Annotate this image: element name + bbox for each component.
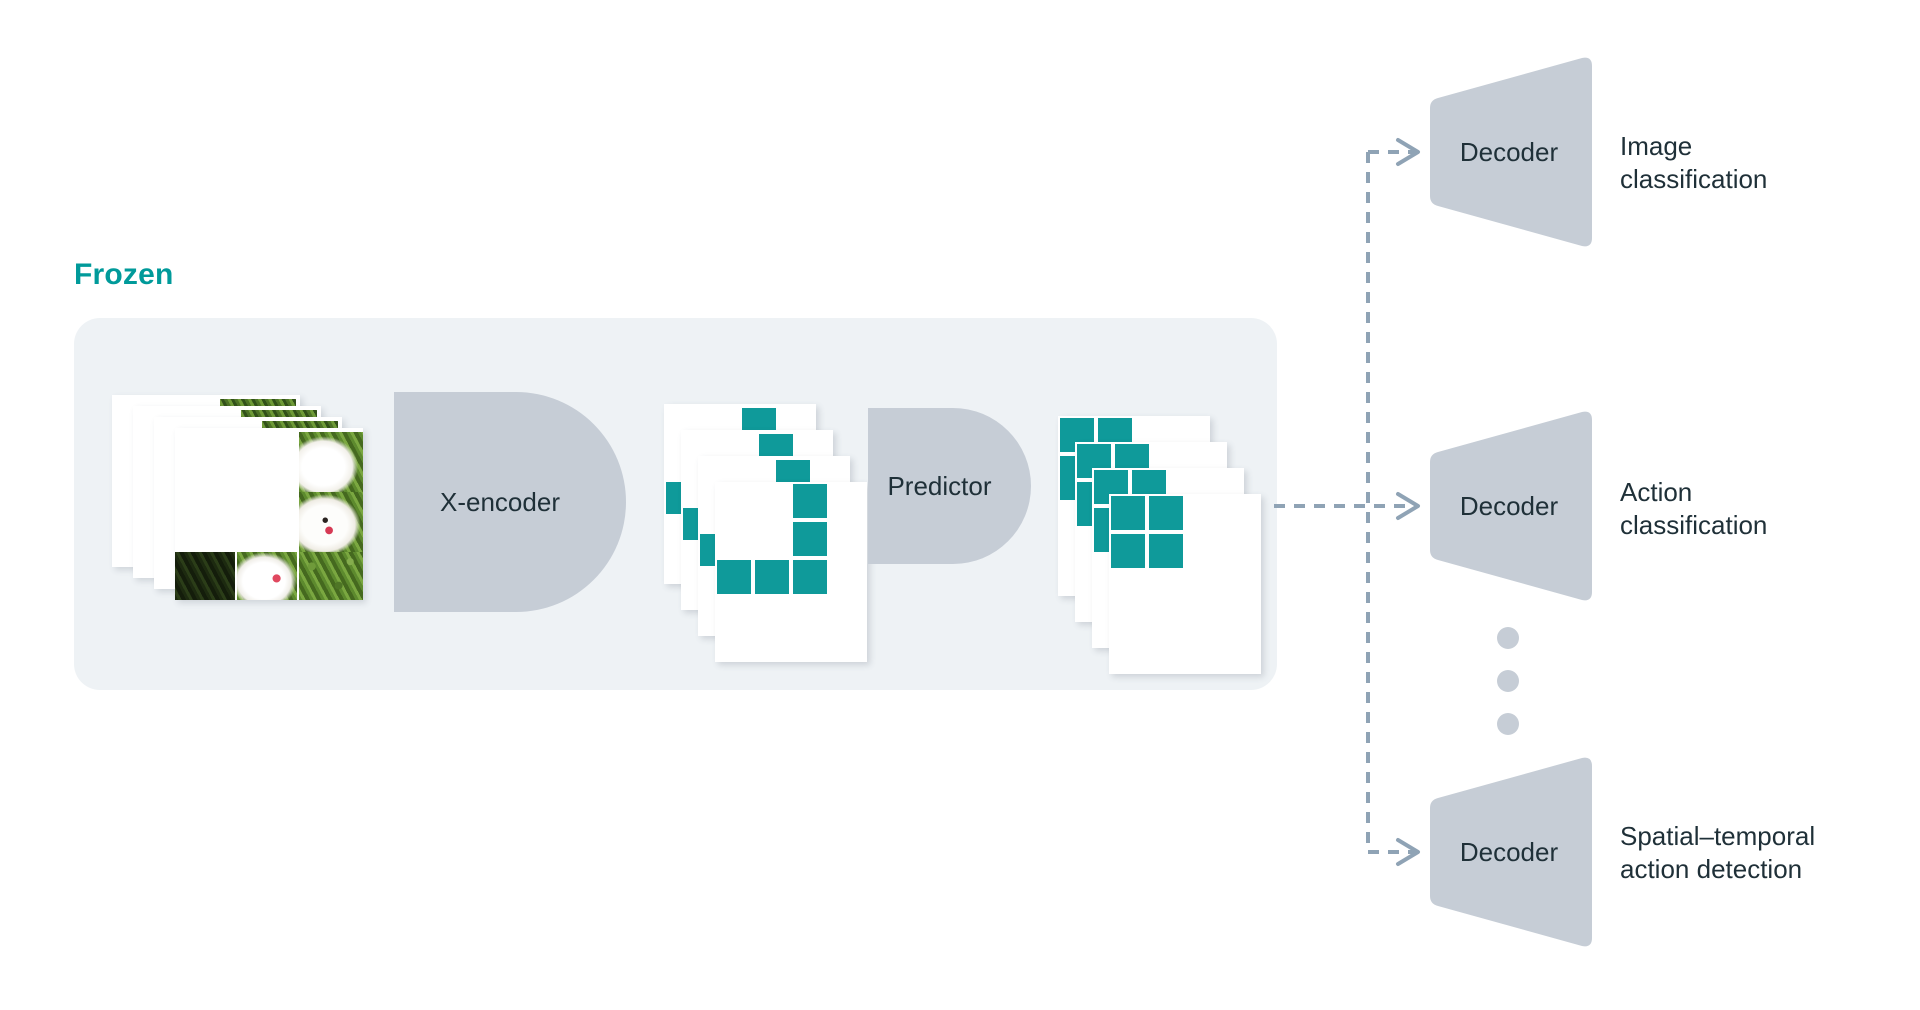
ellipsis-dot-3 [1497,713,1519,735]
decoder-task-label-spatial-temporal: Spatial–temporal action detection [1620,820,1815,886]
token-tile [791,520,829,558]
latent-frame-4 [715,482,867,662]
decoder-task-label-action-classification: Action classification [1620,476,1767,542]
token-tile [791,482,829,520]
token-tile [1109,494,1147,532]
token-tile [791,558,829,596]
decoder-image-classification[interactable]: Decoder [1424,52,1594,252]
token-tile [1096,416,1134,444]
decoder-task-label-image-classification: Image classification [1620,130,1767,196]
x-encoder-label: X-encoder [440,487,560,518]
token-tile [1147,494,1185,532]
token-tile [1130,468,1168,496]
x-encoder-block[interactable]: X-encoder [394,392,626,612]
visible-patch-dog-face [299,492,363,552]
ellipsis-dot-1 [1497,627,1519,649]
decoder-label: Decoder [1460,137,1558,168]
decoder-spatial-temporal[interactable]: Decoder [1424,752,1594,952]
frozen-label: Frozen [74,258,174,292]
output-token-stack [1058,416,1273,621]
token-tile [1109,532,1147,570]
decoder-label: Decoder [1460,837,1558,868]
token-tile [1147,532,1185,570]
token-tile [715,558,753,596]
ellipsis-dot-2 [1497,670,1519,692]
visible-patch-dog-body [237,552,297,600]
diagram-canvas: Frozen X-encoder [0,0,1920,1010]
decoder-label: Decoder [1460,491,1558,522]
input-frame-4 [175,428,363,600]
predictor-block[interactable]: Predictor [868,408,1031,564]
input-frame-stack [112,395,372,625]
visible-patch-grass [299,552,363,600]
visible-patch-dog-fur [299,432,363,492]
token-tile [753,558,791,596]
latent-token-stack [664,404,874,609]
predictor-label: Predictor [887,471,991,502]
output-frame-4 [1109,494,1261,674]
visible-patch-grass-dark [175,552,235,600]
decoder-action-classification[interactable]: Decoder [1424,406,1594,606]
token-tile [1113,442,1151,470]
